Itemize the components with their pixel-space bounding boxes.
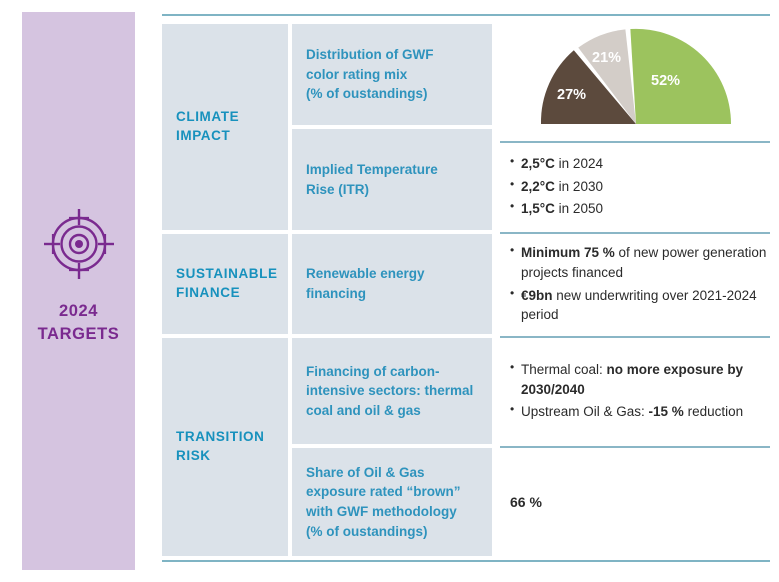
category-label-climate-impact: CLIMATE IMPACT <box>176 108 239 146</box>
desc-line3: (% of oustandings) <box>306 84 433 104</box>
value-cell-oil-gas-brown-share: 66 % <box>496 448 770 556</box>
side-panel-title: 2024 TARGETS <box>38 300 120 345</box>
bullet-rest-text: in 2030 <box>555 179 603 194</box>
bullet-bold-text: 2,5°C <box>521 156 555 171</box>
bullet-list-transition-risk: Thermal coal: no more exposure by 2030/2… <box>510 360 770 422</box>
desc-line1: Financing of carbon- <box>306 362 473 382</box>
bullet-pre-text: Upstream Oil & Gas: <box>521 404 649 419</box>
desc-line2: financing <box>306 284 425 304</box>
desc-line3: with GWF methodology <box>306 502 461 522</box>
value-cell-renewable-energy: Minimum 75 % of new power generation pro… <box>496 234 770 334</box>
desc-line2: exposure rated “brown” <box>306 482 461 502</box>
category-label-line1: CLIMATE <box>176 108 239 127</box>
table-top-rule <box>162 14 770 16</box>
bullet-rest-text: in 2024 <box>555 156 603 171</box>
bullet-bold-text: 2,2°C <box>521 179 555 194</box>
bullet-bold-text: 1,5°C <box>521 201 555 216</box>
desc-line4: (% of oustandings) <box>306 522 461 542</box>
value-text-oil-gas-brown-share: 66 % <box>510 494 770 510</box>
bullet-bold-text: €9bn <box>521 288 553 303</box>
category-label-sustainable-finance: SUSTAINABLE FINANCE <box>176 265 278 303</box>
desc-line2: intensive sectors: thermal <box>306 381 473 401</box>
bullet-list-renewable-energy: Minimum 75 % of new power generation pro… <box>510 243 770 324</box>
bullet-bold-text: -15 % <box>649 404 684 419</box>
bullet-list-itr: 2,5°C in 2024 2,2°C in 2030 1,5°C in 205… <box>510 154 770 219</box>
targets-table: CLIMATE IMPACT Distribution of GWF color… <box>162 14 770 564</box>
bullet-pre-text: Thermal coal: <box>521 362 607 377</box>
value-cell-itr: 2,5°C in 2024 2,2°C in 2030 1,5°C in 205… <box>496 143 770 230</box>
bullet-rest-text: new underwriting over 2021-2024 period <box>521 288 757 323</box>
gwf-color-rating-chart: 52% 21% 27% <box>496 24 776 136</box>
category-label-line2: FINANCE <box>176 284 278 303</box>
side-panel-title-word: TARGETS <box>38 323 120 345</box>
targets-side-panel: 2024 TARGETS <box>22 12 135 570</box>
bullet-rest-text: reduction <box>684 404 743 419</box>
category-cell-sustainable-finance: SUSTAINABLE FINANCE <box>162 234 288 334</box>
desc-line2: Rise (ITR) <box>306 180 438 200</box>
category-label-line2: IMPACT <box>176 127 239 146</box>
list-item: 2,2°C in 2030 <box>510 177 770 197</box>
description-cell-itr: Implied Temperature Rise (ITR) <box>292 129 492 230</box>
list-item: 1,5°C in 2050 <box>510 199 770 219</box>
description-cell-carbon-intensive-financing: Financing of carbon- intensive sectors: … <box>292 338 492 444</box>
bullet-rest-text: in 2050 <box>555 201 603 216</box>
side-panel-title-year: 2024 <box>38 300 120 322</box>
description-cell-oil-gas-brown-share: Share of Oil & Gas exposure rated “brown… <box>292 448 492 556</box>
desc-line1: Renewable energy <box>306 264 425 284</box>
description-label-carbon-intensive-financing: Financing of carbon- intensive sectors: … <box>306 362 473 421</box>
description-cell-renewable-energy: Renewable energy financing <box>292 234 492 334</box>
category-label-line1: SUSTAINABLE <box>176 265 278 284</box>
value-cell-carbon-intensive-financing: Thermal coal: no more exposure by 2030/2… <box>496 338 770 444</box>
category-label-line1: TRANSITION <box>176 428 265 447</box>
table-bottom-rule <box>162 560 770 562</box>
desc-line3: coal and oil & gas <box>306 401 473 421</box>
list-item: €9bn new underwriting over 2021-2024 per… <box>510 286 770 325</box>
description-label-itr: Implied Temperature Rise (ITR) <box>306 160 438 199</box>
description-label-renewable-energy: Renewable energy financing <box>306 264 425 303</box>
description-label-gwf-distribution: Distribution of GWF color rating mix (% … <box>306 45 433 104</box>
category-label-line2: RISK <box>176 447 265 466</box>
desc-line1: Implied Temperature <box>306 160 438 180</box>
category-label-transition-risk: TRANSITION RISK <box>176 428 265 466</box>
category-cell-transition-risk: TRANSITION RISK <box>162 338 288 556</box>
list-item: Minimum 75 % of new power generation pro… <box>510 243 770 282</box>
list-item: Upstream Oil & Gas: -15 % reduction <box>510 402 770 422</box>
category-cell-climate-impact: CLIMATE IMPACT <box>162 24 288 230</box>
list-item: 2,5°C in 2024 <box>510 154 770 174</box>
desc-line1: Distribution of GWF <box>306 45 433 65</box>
targets-grid: CLIMATE IMPACT Distribution of GWF color… <box>162 24 770 556</box>
chart-slice-green <box>630 29 731 124</box>
target-icon <box>42 207 116 286</box>
desc-line2: color rating mix <box>306 65 433 85</box>
list-item: Thermal coal: no more exposure by 2030/2… <box>510 360 770 399</box>
bullet-bold-text: Minimum 75 % <box>521 245 615 260</box>
value-cell-gwf-chart: 52% 21% 27% <box>496 24 770 139</box>
desc-line1: Share of Oil & Gas <box>306 463 461 483</box>
description-cell-gwf-distribution: Distribution of GWF color rating mix (% … <box>292 24 492 125</box>
description-label-oil-gas-brown-share: Share of Oil & Gas exposure rated “brown… <box>306 463 461 541</box>
